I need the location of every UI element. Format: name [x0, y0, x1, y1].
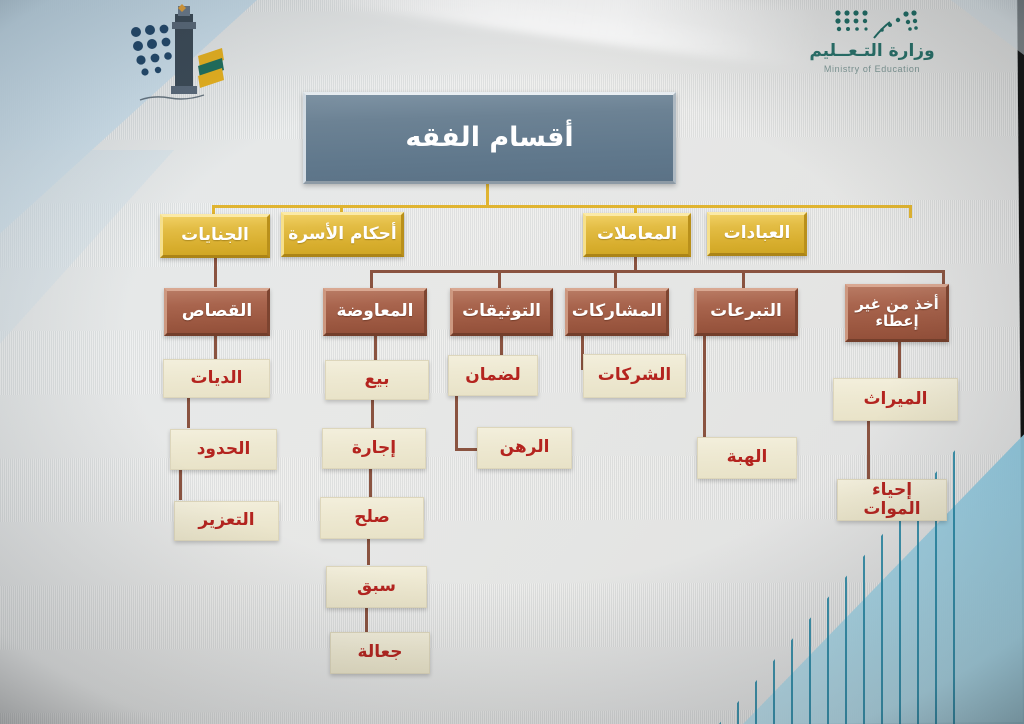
node-tabarruat[interactable]: التبرعات — [694, 288, 798, 336]
connector-daman-rahn-h — [455, 448, 477, 451]
connector-brown-drop-muawada — [370, 270, 373, 288]
ministry-of-education-logo: وزارة التـعــليم Ministry of Education — [782, 8, 962, 84]
connector-brown-drop-tawthiqat — [498, 270, 501, 288]
connector-brown-drop-musharakat — [614, 270, 617, 288]
ministry-name-english: Ministry of Education — [782, 64, 962, 74]
connector-qisas-diyat — [214, 336, 217, 359]
node-bay[interactable]: بيع — [325, 360, 429, 400]
node-label: الميراث — [834, 390, 957, 409]
node-label: الشركات — [584, 366, 685, 385]
node-ahkam-usra[interactable]: أحكام الأسرة — [281, 212, 404, 257]
connector-hudud-tazir — [179, 470, 182, 500]
connector-mirath-ihya — [867, 420, 870, 480]
node-label-line1: أخذ من غير — [852, 296, 942, 313]
connector-daman-rahn-v — [455, 396, 458, 450]
node-label: التعزير — [175, 511, 278, 530]
node-jinayat[interactable]: الجنايات — [160, 214, 270, 258]
node-label: المعاملات — [586, 225, 688, 244]
node-sulh[interactable]: صلح — [320, 497, 424, 539]
node-tazir[interactable]: التعزير — [174, 501, 279, 541]
school-logo — [118, 4, 230, 108]
connector-bay-ijara — [371, 400, 374, 428]
connector-ijara-sulh — [369, 469, 372, 497]
connector-gold-drop-ibadat — [909, 205, 912, 218]
node-ibadat[interactable]: العبادات — [707, 212, 807, 256]
connector-gold-bus — [212, 205, 912, 208]
node-sharikat[interactable]: الشركات — [583, 354, 686, 398]
node-daman[interactable]: لضمان — [448, 355, 538, 396]
node-label: المعاوضة — [326, 302, 424, 321]
node-label: جعالة — [331, 643, 429, 662]
node-ihya-al-mawat[interactable]: إحياء الموات — [837, 479, 947, 521]
connector-muamalat-stem — [634, 256, 637, 271]
connector-muawada-bay — [374, 336, 377, 360]
node-label: العبادات — [710, 224, 804, 243]
node-label-line2: إعطاء — [852, 313, 942, 330]
node-label: إحياء الموات — [838, 481, 946, 519]
node-label: لضمان — [449, 366, 537, 385]
node-tawthiqat[interactable]: التوثيقات — [450, 288, 553, 336]
node-label: الحدود — [171, 440, 276, 459]
node-label: بيع — [326, 370, 428, 389]
node-sabq[interactable]: سبق — [326, 566, 427, 608]
connector-sabq-juala — [365, 608, 368, 632]
node-label: صلح — [321, 508, 423, 527]
node-label: المشاركات — [568, 302, 666, 321]
connector-brown-bus — [370, 270, 945, 273]
connector-sulh-sabq — [367, 539, 370, 565]
node-muamalat[interactable]: المعاملات — [583, 213, 691, 257]
connector-diyat-hudud — [187, 398, 190, 428]
connector-root-stem — [486, 184, 489, 206]
screenshot-root: وزارة التـعــليم Ministry of Education أ… — [0, 0, 1024, 724]
node-label: الرهن — [478, 438, 571, 457]
node-root-aqsam-alfiqh[interactable]: أقسام الفقه — [303, 92, 676, 184]
node-diyat[interactable]: الديات — [163, 359, 270, 398]
node-qisas[interactable]: القصاص — [164, 288, 270, 336]
connector-tabarruat-hiba — [703, 336, 706, 440]
connector-akhth-mirath — [898, 342, 901, 378]
connector-brown-drop-tabarruat — [742, 270, 745, 288]
node-rahn[interactable]: الرهن — [477, 427, 572, 469]
node-label: الجنايات — [163, 226, 267, 245]
node-ijara[interactable]: إجارة — [322, 428, 426, 469]
node-muawada[interactable]: المعاوضة — [323, 288, 427, 336]
node-label: أحكام الأسرة — [284, 225, 401, 244]
node-hiba[interactable]: الهبة — [697, 437, 797, 479]
node-label: أخذ من غير إعطاء — [848, 296, 946, 330]
connector-brown-drop-akhth — [942, 270, 945, 284]
ministry-name-arabic: وزارة التـعــليم — [782, 42, 962, 61]
node-hudud[interactable]: الحدود — [170, 429, 277, 470]
node-mirath[interactable]: الميراث — [833, 378, 958, 421]
node-juala[interactable]: جعالة — [330, 632, 430, 674]
node-label: التوثيقات — [453, 302, 550, 321]
node-label: سبق — [327, 577, 426, 596]
node-akhth-min-ghayr-itaa[interactable]: أخذ من غير إعطاء — [845, 284, 949, 342]
node-label: القصاص — [167, 302, 267, 321]
node-label: التبرعات — [697, 302, 795, 321]
connector-jinayat-qisas — [214, 256, 217, 287]
node-label: أقسام الفقه — [306, 123, 673, 153]
connector-tawthiqat-daman — [500, 336, 503, 355]
node-label: الديات — [164, 369, 269, 388]
node-musharakat[interactable]: المشاركات — [565, 288, 669, 336]
node-label: إجارة — [323, 439, 425, 458]
node-label: الهبة — [698, 448, 796, 467]
